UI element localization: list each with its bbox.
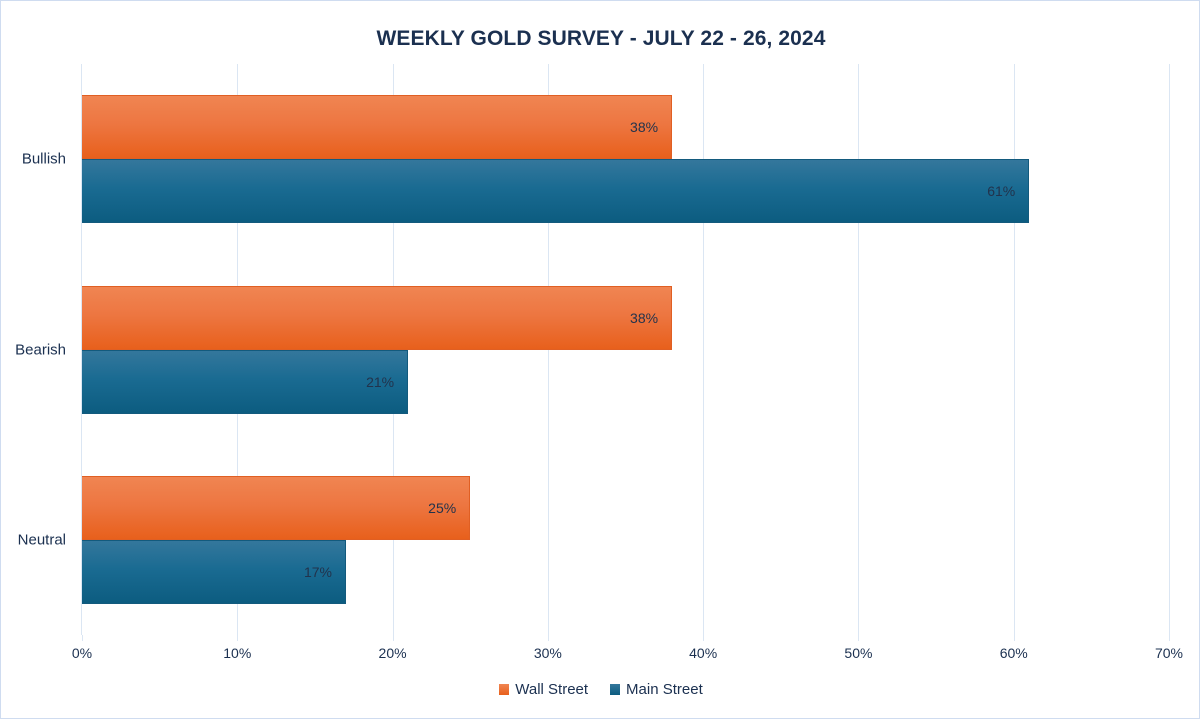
x-tick-mark: [393, 635, 394, 641]
category-label-bearish: Bearish: [15, 341, 66, 358]
x-tick-label: 10%: [223, 645, 251, 661]
bar-value-label: 38%: [630, 119, 658, 135]
x-tick-mark: [1169, 635, 1170, 641]
bar-bullish-main-street[interactable]: 61%: [82, 159, 1029, 223]
chart-legend: Wall StreetMain Street: [1, 681, 1200, 698]
bar-value-label: 25%: [428, 500, 456, 516]
x-tick-mark: [858, 635, 859, 641]
x-tick-mark: [82, 635, 83, 641]
legend-label: Wall Street: [515, 681, 588, 698]
x-tick-label: 0%: [72, 645, 92, 661]
bar-value-label: 61%: [987, 183, 1015, 199]
bar-bearish-main-street[interactable]: 21%: [82, 350, 408, 414]
bar-bearish-wall-street[interactable]: 38%: [82, 286, 672, 350]
legend-item-wall-street[interactable]: Wall Street: [499, 681, 588, 698]
bar-neutral-wall-street[interactable]: 25%: [82, 476, 470, 540]
gold-survey-bar-chart: WEEKLY GOLD SURVEY - JULY 22 - 26, 2024 …: [0, 0, 1200, 719]
legend-item-main-street[interactable]: Main Street: [610, 681, 703, 698]
bar-value-label: 38%: [630, 310, 658, 326]
bar-neutral-main-street[interactable]: 17%: [82, 540, 346, 604]
x-tick-mark: [237, 635, 238, 641]
bar-bullish-wall-street[interactable]: 38%: [82, 95, 672, 159]
plot-area: 38%61%38%21%25%17%: [82, 64, 1169, 635]
x-tick-label: 30%: [534, 645, 562, 661]
x-tick-label: 50%: [844, 645, 872, 661]
bar-value-label: 17%: [304, 564, 332, 580]
legend-swatch-icon: [610, 684, 620, 695]
x-tick-mark: [548, 635, 549, 641]
gridline: [1169, 64, 1170, 635]
legend-label: Main Street: [626, 681, 703, 698]
bar-value-label: 21%: [366, 374, 394, 390]
x-tick-label: 60%: [1000, 645, 1028, 661]
category-label-bullish: Bullish: [22, 151, 66, 168]
x-tick-label: 70%: [1155, 645, 1183, 661]
chart-title: WEEKLY GOLD SURVEY - JULY 22 - 26, 2024: [1, 27, 1200, 51]
category-label-neutral: Neutral: [18, 531, 66, 548]
x-tick-mark: [703, 635, 704, 641]
bars-layer: 38%61%38%21%25%17%: [82, 64, 1169, 635]
x-tick-mark: [1014, 635, 1015, 641]
x-tick-label: 40%: [689, 645, 717, 661]
x-tick-label: 20%: [379, 645, 407, 661]
legend-swatch-icon: [499, 684, 509, 695]
